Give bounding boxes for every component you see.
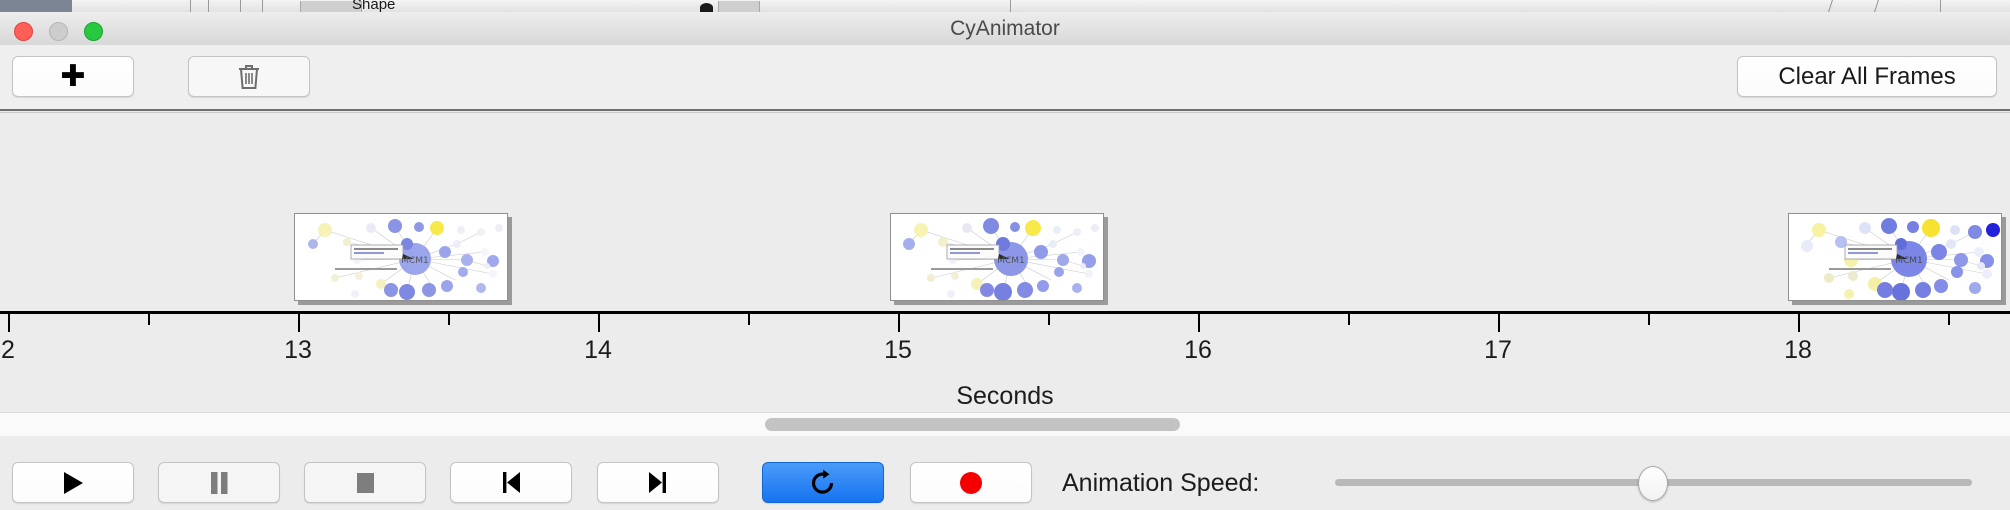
- cyanimator-window: Shape CyAnimator ✚ Clear All Frames: [0, 0, 2010, 510]
- delete-frame-button[interactable]: [188, 56, 310, 97]
- axis-tick-major: [1498, 314, 1500, 332]
- animation-speed-label: Animation Speed:: [1062, 469, 1259, 498]
- skip-forward-icon: [646, 469, 670, 496]
- loop-icon: [809, 469, 837, 497]
- network-graph-preview: MCM1: [295, 214, 507, 300]
- background-divider: [1828, 0, 1833, 12]
- axis-tick-minor: [448, 314, 450, 325]
- axis-tick-label: 15: [884, 336, 912, 365]
- axis-tick-label: 17: [1484, 336, 1512, 365]
- axis-tick-minor: [148, 314, 150, 325]
- record-button[interactable]: [910, 462, 1032, 503]
- frame-thumbnail[interactable]: MCM1: [1788, 213, 2002, 301]
- background-divider: [190, 0, 191, 12]
- titlebar: CyAnimator: [0, 12, 2010, 46]
- axis-tick-minor: [1648, 314, 1650, 325]
- stop-button[interactable]: [304, 462, 426, 503]
- axis-tick-label: 16: [1184, 336, 1212, 365]
- axis-tick-major: [8, 314, 10, 332]
- timeline-scrollbar[interactable]: [0, 412, 2010, 437]
- axis-tick-label: 13: [284, 336, 312, 365]
- trash-icon: [237, 63, 261, 90]
- svg-text:MCM1: MCM1: [401, 256, 429, 266]
- record-icon: [958, 470, 984, 496]
- background-divider: [1874, 0, 1879, 12]
- background-cell: [718, 1, 760, 12]
- clear-all-frames-label: Clear All Frames: [1778, 63, 1955, 91]
- play-button[interactable]: [12, 462, 134, 503]
- axis-title: Seconds: [0, 382, 2010, 411]
- timeline-axis: [0, 311, 2010, 314]
- add-frame-button[interactable]: ✚: [12, 56, 134, 97]
- prev-frame-button[interactable]: [450, 462, 572, 503]
- background-divider: [208, 0, 209, 12]
- clear-all-frames-button[interactable]: Clear All Frames: [1737, 56, 1997, 97]
- timeline-scrollbar-thumb[interactable]: [765, 418, 1180, 431]
- window-title: CyAnimator: [0, 12, 2010, 45]
- axis-tick-label: 14: [584, 336, 612, 365]
- svg-text:MCM1: MCM1: [997, 256, 1025, 266]
- play-icon: [60, 469, 86, 497]
- axis-tick-label: 18: [1784, 336, 1812, 365]
- background-divider: [1010, 0, 1011, 12]
- background-active-tab: [0, 0, 72, 12]
- axis-tick-major: [1198, 314, 1200, 332]
- background-marker: [700, 3, 713, 12]
- axis-tick-minor: [748, 314, 750, 325]
- toolbar-separator: [0, 109, 2010, 111]
- background-divider: [262, 0, 263, 12]
- stop-icon: [353, 470, 377, 496]
- plus-icon: ✚: [60, 62, 85, 92]
- frame-thumbnail[interactable]: MCM1: [294, 213, 508, 301]
- network-graph-preview: MCM1: [1789, 214, 2001, 300]
- background-divider: [1940, 0, 1941, 12]
- next-frame-button[interactable]: [597, 462, 719, 503]
- axis-tick-minor: [1048, 314, 1050, 325]
- background-divider: [240, 0, 241, 12]
- network-graph-preview: MCM1: [891, 214, 1103, 300]
- axis-tick-major: [1798, 314, 1800, 332]
- axis-tick-label: 2: [1, 336, 15, 365]
- loop-button[interactable]: [762, 462, 884, 503]
- axis-tick-major: [898, 314, 900, 332]
- axis-tick-minor: [1348, 314, 1350, 325]
- axis-tick-major: [298, 314, 300, 332]
- pause-icon: [207, 470, 231, 496]
- svg-text:MCM1: MCM1: [1895, 256, 1923, 266]
- skip-back-icon: [499, 469, 523, 496]
- axis-tick-major: [598, 314, 600, 332]
- axis-tick-minor: [1948, 314, 1950, 325]
- pause-button[interactable]: [158, 462, 280, 503]
- animation-speed-slider-thumb[interactable]: [1638, 466, 1668, 501]
- frame-thumbnail[interactable]: MCM1: [890, 213, 1104, 301]
